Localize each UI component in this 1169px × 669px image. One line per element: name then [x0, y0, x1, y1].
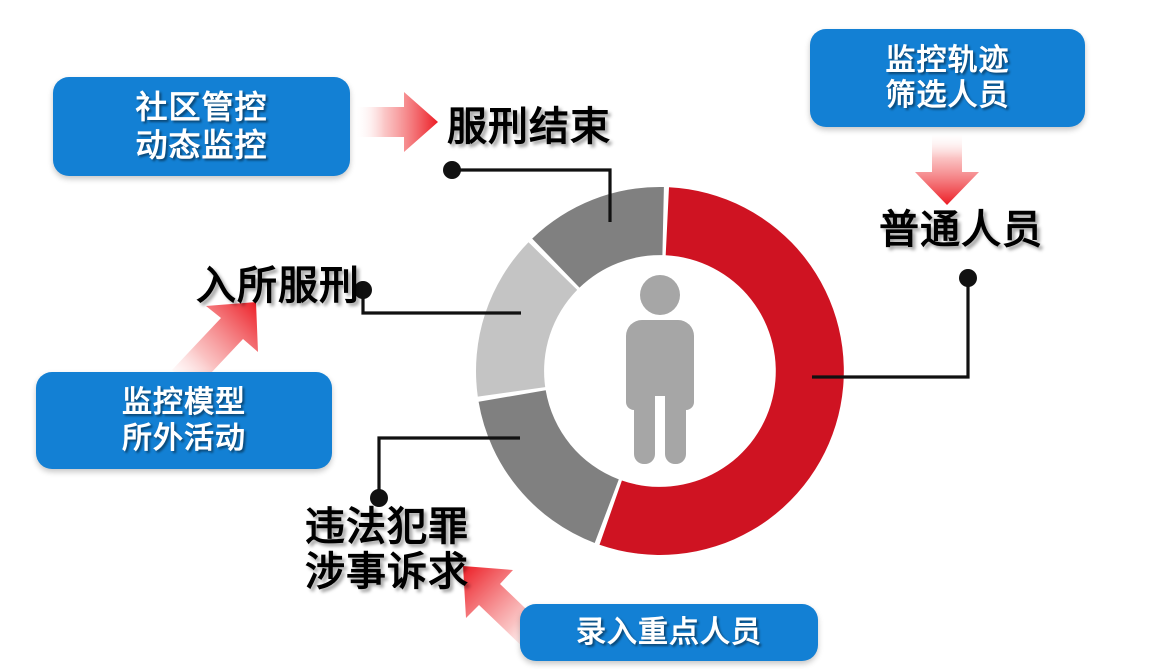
ring-segment-sentence-end — [479, 390, 619, 543]
donut-chart — [476, 187, 844, 555]
person-icon — [626, 275, 694, 464]
leader-crime-appeal — [370, 438, 520, 507]
label-sentence-end-line-1: 服刑结束 — [447, 105, 611, 150]
arrow-down-icon — [915, 133, 979, 205]
label-ordinary-person-line-1: 普通人员 — [879, 208, 1043, 253]
label-enter-prison: 入所服刑 — [196, 264, 360, 309]
box-community-control-line-1: 社区管控 — [135, 89, 267, 127]
ring-segment-ordinary-person — [600, 187, 844, 555]
diagram-canvas: 社区管控 动态监控 监控轨迹 筛选人员 监控模型 所外活动 录入重点人员 服刑结… — [0, 0, 1169, 669]
leader-enter-prison — [354, 281, 521, 313]
box-monitor-track-line-1: 监控轨迹 — [886, 43, 1010, 78]
label-ordinary-person: 普通人员 — [879, 208, 1043, 253]
box-community-control[interactable]: 社区管控 动态监控 — [53, 77, 350, 176]
box-enter-key-person[interactable]: 录入重点人员 — [520, 604, 818, 661]
arrow-right-icon — [356, 92, 438, 152]
label-crime-appeal: 违法犯罪 涉事诉求 — [305, 505, 469, 595]
box-monitor-model-line-1: 监控模型 — [122, 385, 246, 420]
box-monitor-model[interactable]: 监控模型 所外活动 — [36, 372, 332, 469]
ring-segment-crime-appeal — [532, 187, 664, 288]
label-crime-appeal-line-1: 违法犯罪 — [305, 505, 469, 550]
box-monitor-track-line-2: 筛选人员 — [886, 78, 1010, 113]
label-sentence-end: 服刑结束 — [447, 105, 611, 150]
leader-sentence-end — [443, 161, 610, 222]
box-community-control-line-2: 动态监控 — [135, 127, 267, 165]
box-monitor-model-line-2: 所外活动 — [122, 421, 246, 456]
box-enter-key-person-line-1: 录入重点人员 — [576, 615, 762, 650]
box-monitor-track[interactable]: 监控轨迹 筛选人员 — [810, 29, 1085, 127]
ring-segment-enter-prison — [476, 242, 577, 396]
label-enter-prison-line-1: 入所服刑 — [196, 264, 360, 309]
label-crime-appeal-line-2: 涉事诉求 — [305, 550, 469, 595]
leader-ordinary-person — [812, 269, 977, 377]
